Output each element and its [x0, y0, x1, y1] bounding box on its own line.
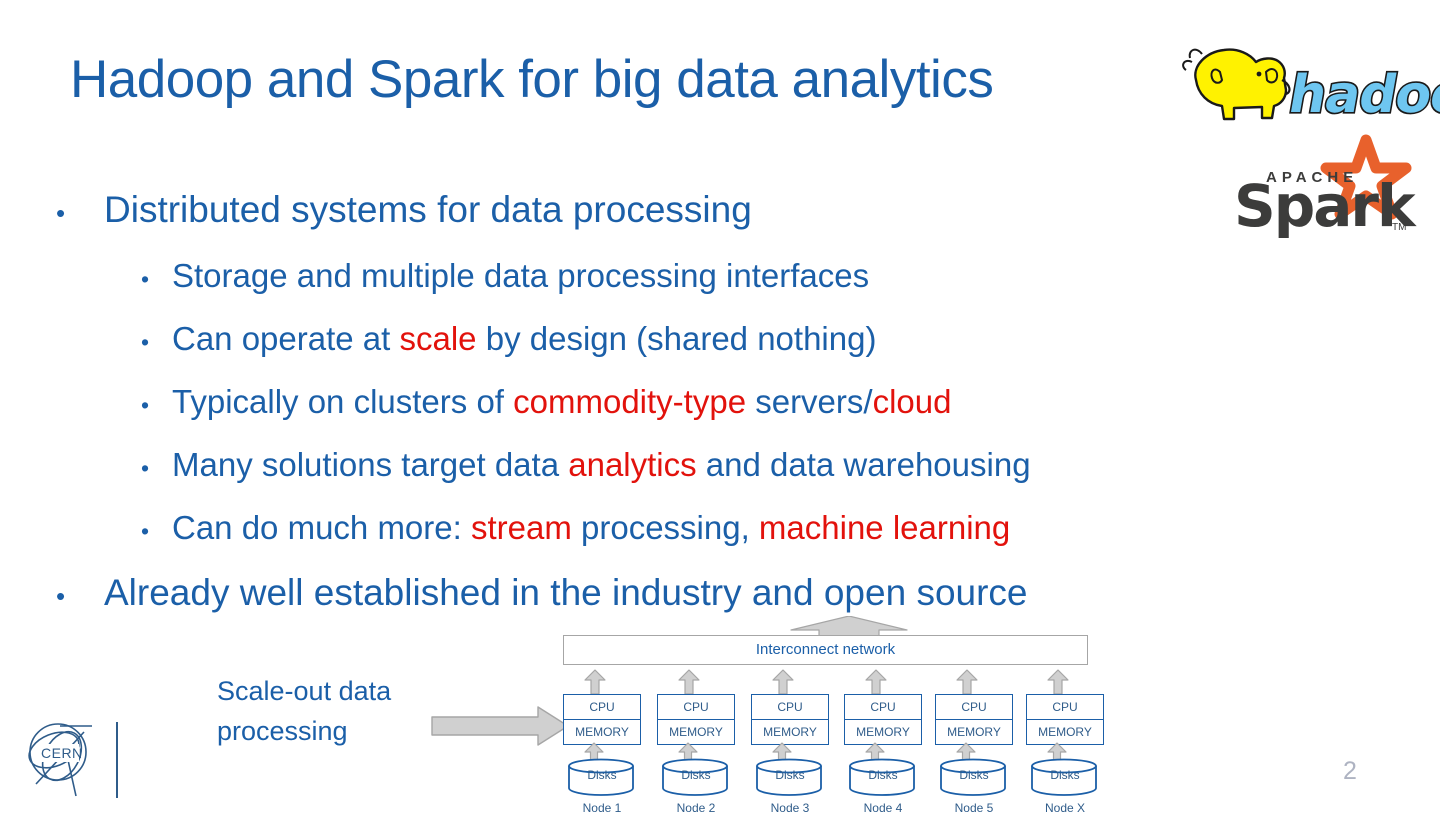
bullet-segment: Already well established in the industry… [104, 572, 1028, 613]
bullet-segment: Typically on clusters of [172, 383, 513, 420]
bullet-marker-icon: • [141, 500, 172, 563]
node-disks-label: Disks [751, 768, 829, 782]
bullet-text: Can do much more: stream processing, mac… [172, 496, 1010, 559]
bullet-item: •Distributed systems for data processing [0, 176, 1440, 244]
scale-out-caption-line2: processing [217, 711, 447, 751]
node-network-arrow-icon [1047, 669, 1069, 695]
node-memory-label: MEMORY [936, 720, 1012, 744]
footer-divider [116, 722, 118, 798]
bullet-item: •Typically on clusters of commodity-type… [0, 370, 1440, 433]
node-cpu-memory-box: CPUMEMORY [844, 694, 922, 745]
node-disks-label: Disks [657, 768, 735, 782]
scale-out-caption: Scale-out data processing [217, 671, 447, 751]
bullet-segment: Can do much more: [172, 509, 471, 546]
bullet-highlight: commodity-type [513, 383, 746, 420]
bullet-list: •Distributed systems for data processing… [0, 176, 1440, 627]
bullet-item: •Can operate at scale by design (shared … [0, 307, 1440, 370]
bullet-text: Many solutions target data analytics and… [172, 433, 1031, 496]
node-cpu-label: CPU [936, 695, 1012, 720]
node-cpu-label: CPU [752, 695, 828, 720]
bullet-marker-icon: • [56, 562, 104, 630]
bullet-item: •Can do much more: stream processing, ma… [0, 496, 1440, 559]
cern-label: CERN [41, 745, 83, 761]
bullet-segment: Storage and multiple data processing int… [172, 257, 869, 294]
node-memory-label: MEMORY [845, 720, 921, 744]
node-network-arrow-icon [772, 669, 794, 695]
bullet-segment: processing, [572, 509, 759, 546]
node-memory-label: MEMORY [564, 720, 640, 744]
node-label: Node 5 [931, 801, 1017, 815]
node-cpu-label: CPU [845, 695, 921, 720]
node-label: Node X [1022, 801, 1108, 815]
bullet-segment: and data warehousing [697, 446, 1031, 483]
bullet-text: Storage and multiple data processing int… [172, 244, 869, 307]
bullet-segment: by design (shared nothing) [477, 320, 877, 357]
node-cpu-label: CPU [658, 695, 734, 720]
bullet-segment: Many solutions target data [172, 446, 568, 483]
bullet-highlight: scale [400, 320, 477, 357]
node-disks-label: Disks [563, 768, 641, 782]
node-cpu-label: CPU [564, 695, 640, 720]
node-label: Node 3 [747, 801, 833, 815]
interconnect-network-bar: Interconnect network [563, 635, 1088, 665]
scale-out-arrow-icon [430, 705, 570, 747]
node-network-arrow-icon [865, 669, 887, 695]
bullet-segment: servers/ [746, 383, 873, 420]
bullet-marker-icon: • [141, 437, 172, 500]
hadoop-wordmark: hadoop [1284, 64, 1440, 125]
node-network-arrow-icon [678, 669, 700, 695]
bullet-segment: Can operate at [172, 320, 400, 357]
bullet-highlight: analytics [568, 446, 696, 483]
node-cpu-memory-box: CPUMEMORY [1026, 694, 1104, 745]
node-label: Node 1 [559, 801, 645, 815]
node-disks-label: Disks [844, 768, 922, 782]
bullet-highlight: stream [471, 509, 572, 546]
node-label: Node 2 [653, 801, 739, 815]
node-cpu-memory-box: CPUMEMORY [563, 694, 641, 745]
hadoop-elephant-icon [1183, 50, 1289, 119]
node-label: Node 4 [840, 801, 926, 815]
node-cpu-memory-box: CPUMEMORY [751, 694, 829, 745]
bullet-highlight: cloud [873, 383, 952, 420]
hadoop-logo: hadoop [1162, 36, 1440, 132]
bullet-highlight: machine learning [759, 509, 1010, 546]
node-memory-label: MEMORY [658, 720, 734, 744]
node-cpu-memory-box: CPUMEMORY [935, 694, 1013, 745]
node-cpu-memory-box: CPUMEMORY [657, 694, 735, 745]
bullet-item: •Many solutions target data analytics an… [0, 433, 1440, 496]
bullet-item: •Storage and multiple data processing in… [0, 244, 1440, 307]
cluster-diagram: Interconnect network CPUMEMORYDisksNode … [556, 616, 1096, 810]
node-memory-label: MEMORY [1027, 720, 1103, 744]
page-number: 2 [1330, 757, 1370, 786]
bullet-marker-icon: • [141, 248, 172, 311]
bullet-text: Distributed systems for data processing [104, 176, 752, 244]
node-cpu-label: CPU [1027, 695, 1103, 720]
bullet-marker-icon: • [141, 374, 172, 437]
svg-text:hadoop: hadoop [1284, 64, 1440, 125]
bullet-marker-icon: • [56, 179, 104, 247]
scale-out-caption-line1: Scale-out data [217, 671, 447, 711]
bullet-text: Typically on clusters of commodity-type … [172, 370, 951, 433]
node-network-arrow-icon [956, 669, 978, 695]
bullet-text: Can operate at scale by design (shared n… [172, 307, 876, 370]
node-memory-label: MEMORY [752, 720, 828, 744]
bullet-segment: Distributed systems for data processing [104, 189, 752, 230]
node-network-arrow-icon [584, 669, 606, 695]
cern-logo: CERN [22, 712, 102, 798]
node-disks-label: Disks [935, 768, 1013, 782]
bullet-marker-icon: • [141, 311, 172, 374]
node-disks-label: Disks [1026, 768, 1104, 782]
